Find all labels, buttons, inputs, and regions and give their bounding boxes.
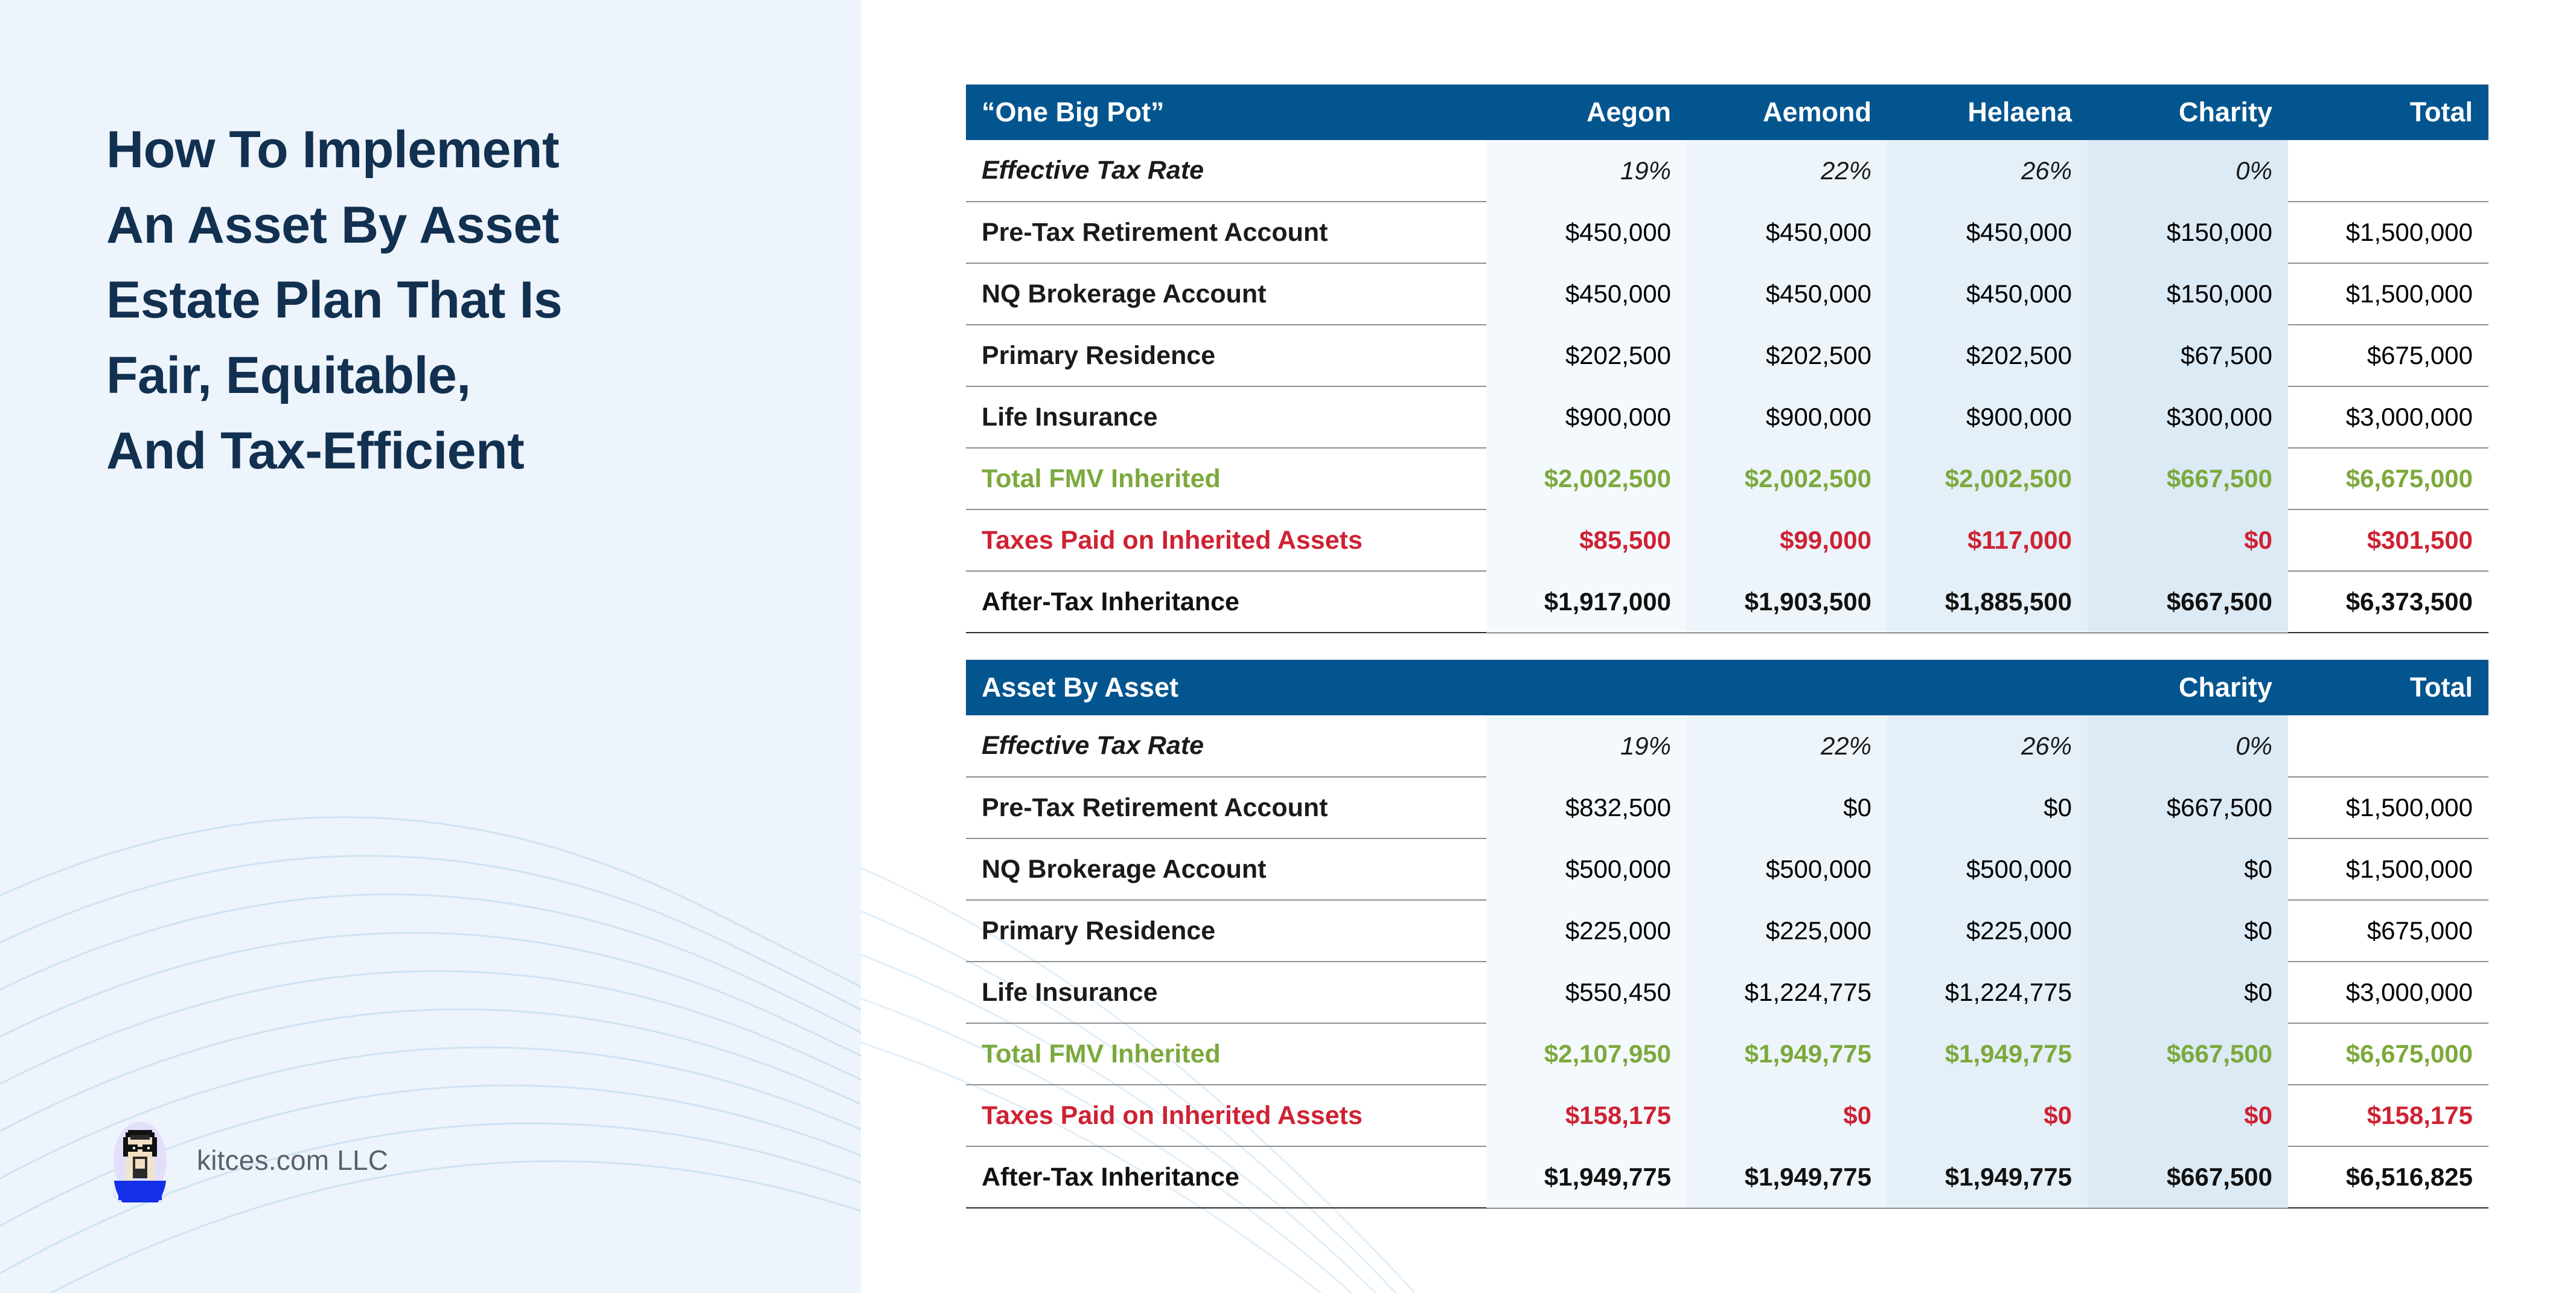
- cell-aemond: $99,000: [1687, 509, 1887, 571]
- cell-aemond: $900,000: [1687, 386, 1887, 448]
- column-header-aegon: [1486, 660, 1687, 715]
- cell-aegon: $2,002,500: [1486, 448, 1687, 509]
- column-header-label: Asset By Asset: [966, 660, 1486, 715]
- row-label: Life Insurance: [966, 386, 1486, 448]
- table-body: Effective Tax Rate 19% 22% 26% 0% Pre-Ta…: [966, 140, 2488, 633]
- cell-aemond: $1,224,775: [1687, 962, 1887, 1023]
- cell-aegon: $550,450: [1486, 962, 1687, 1023]
- financial-table: Asset By Asset Charity Total Effective T…: [966, 660, 2488, 1208]
- column-header-total: Total: [2288, 85, 2488, 140]
- row-label: Total FMV Inherited: [966, 448, 1486, 509]
- cell-aemond: $225,000: [1687, 900, 1887, 962]
- cell-aegon: $2,107,950: [1486, 1023, 1687, 1085]
- cell-charity: $150,000: [2088, 202, 2288, 263]
- cell-helaena: $450,000: [1887, 263, 2088, 325]
- column-header-aegon: Aegon: [1486, 85, 1687, 140]
- cell-aemond: $202,500: [1687, 325, 1887, 386]
- page-title: How To Implement An Asset By Asset Estat…: [106, 112, 819, 488]
- table-row: Life Insurance $550,450 $1,224,775 $1,22…: [966, 962, 2488, 1023]
- table-row: Total FMV Inherited $2,107,950 $1,949,77…: [966, 1023, 2488, 1085]
- cell-helaena: $1,949,775: [1887, 1146, 2088, 1208]
- cell-charity: $67,500: [2088, 325, 2288, 386]
- table-row: Total FMV Inherited $2,002,500 $2,002,50…: [966, 448, 2488, 509]
- row-label: Pre-Tax Retirement Account: [966, 777, 1486, 838]
- cell-total: $6,373,500: [2288, 571, 2488, 633]
- cell-helaena: 26%: [1887, 715, 2088, 777]
- row-label: NQ Brokerage Account: [966, 838, 1486, 900]
- cell-total: $675,000: [2288, 325, 2488, 386]
- row-label: Primary Residence: [966, 900, 1486, 962]
- table-asset-by-asset: Asset By Asset Charity Total Effective T…: [966, 660, 2488, 1208]
- cell-aegon: $225,000: [1486, 900, 1687, 962]
- cell-aemond: $1,949,775: [1687, 1023, 1887, 1085]
- cell-aegon: $500,000: [1486, 838, 1687, 900]
- row-label: Pre-Tax Retirement Account: [966, 202, 1486, 263]
- cell-total: $6,516,825: [2288, 1146, 2488, 1208]
- cell-charity: $667,500: [2088, 571, 2288, 633]
- cell-total: $675,000: [2288, 900, 2488, 962]
- cell-aegon: $1,917,000: [1486, 571, 1687, 633]
- cell-total: $1,500,000: [2288, 777, 2488, 838]
- table-row: Pre-Tax Retirement Account $832,500 $0 $…: [966, 777, 2488, 838]
- row-label: After-Tax Inheritance: [966, 1146, 1486, 1208]
- brand-footer: kitces.com LLC: [106, 1118, 388, 1202]
- table-row: Life Insurance $900,000 $900,000 $900,00…: [966, 386, 2488, 448]
- cell-aemond: $450,000: [1687, 202, 1887, 263]
- table-row: NQ Brokerage Account $450,000 $450,000 $…: [966, 263, 2488, 325]
- row-label: Taxes Paid on Inherited Assets: [966, 1085, 1486, 1146]
- cell-aegon: $832,500: [1486, 777, 1687, 838]
- cell-helaena: $0: [1887, 777, 2088, 838]
- table-row: Taxes Paid on Inherited Assets $85,500 $…: [966, 509, 2488, 571]
- row-label: NQ Brokerage Account: [966, 263, 1486, 325]
- column-header-helaena: [1887, 660, 2088, 715]
- table-row: Primary Residence $202,500 $202,500 $202…: [966, 325, 2488, 386]
- table-one-big-pot: “One Big Pot” Aegon Aemond Helaena Chari…: [966, 85, 2488, 633]
- table-header-row: “One Big Pot” Aegon Aemond Helaena Chari…: [966, 85, 2488, 140]
- cell-total: [2288, 715, 2488, 777]
- column-header-total: Total: [2288, 660, 2488, 715]
- cell-helaena: $117,000: [1887, 509, 2088, 571]
- cell-aegon: 19%: [1486, 140, 1687, 202]
- cell-aegon: $900,000: [1486, 386, 1687, 448]
- row-label: Taxes Paid on Inherited Assets: [966, 509, 1486, 571]
- column-header-label: “One Big Pot”: [966, 85, 1486, 140]
- cell-aegon: $450,000: [1486, 263, 1687, 325]
- cell-aegon: $85,500: [1486, 509, 1687, 571]
- cell-charity: $667,500: [2088, 1146, 2288, 1208]
- cell-charity: $667,500: [2088, 777, 2288, 838]
- cell-total: $301,500: [2288, 509, 2488, 571]
- cell-charity: $667,500: [2088, 448, 2288, 509]
- table-row: Primary Residence $225,000 $225,000 $225…: [966, 900, 2488, 962]
- table-row: After-Tax Inheritance $1,917,000 $1,903,…: [966, 571, 2488, 633]
- cell-aemond: 22%: [1687, 715, 1887, 777]
- cell-helaena: $2,002,500: [1887, 448, 2088, 509]
- cell-total: $3,000,000: [2288, 962, 2488, 1023]
- table-header-row: Asset By Asset Charity Total: [966, 660, 2488, 715]
- cell-aegon: $450,000: [1486, 202, 1687, 263]
- cell-aemond: $0: [1687, 1085, 1887, 1146]
- column-header-aemond: [1687, 660, 1887, 715]
- cell-total: $158,175: [2288, 1085, 2488, 1146]
- row-label: Total FMV Inherited: [966, 1023, 1486, 1085]
- cell-aegon: $202,500: [1486, 325, 1687, 386]
- cell-total: $3,000,000: [2288, 386, 2488, 448]
- cell-aemond: $1,903,500: [1687, 571, 1887, 633]
- cell-total: $1,500,000: [2288, 838, 2488, 900]
- table-row: Pre-Tax Retirement Account $450,000 $450…: [966, 202, 2488, 263]
- cell-total: $1,500,000: [2288, 263, 2488, 325]
- cell-aemond: $0: [1687, 777, 1887, 838]
- cell-helaena: $450,000: [1887, 202, 2088, 263]
- cell-total: $6,675,000: [2288, 448, 2488, 509]
- column-header-charity: Charity: [2088, 660, 2288, 715]
- column-header-aemond: Aemond: [1687, 85, 1887, 140]
- cell-charity: $0: [2088, 962, 2288, 1023]
- cell-charity: 0%: [2088, 140, 2288, 202]
- cell-aemond: $500,000: [1687, 838, 1887, 900]
- cell-total: $1,500,000: [2288, 202, 2488, 263]
- cell-helaena: $202,500: [1887, 325, 2088, 386]
- table-row: Effective Tax Rate 19% 22% 26% 0%: [966, 715, 2488, 777]
- column-header-helaena: Helaena: [1887, 85, 2088, 140]
- cell-aegon: $158,175: [1486, 1085, 1687, 1146]
- cell-charity: $300,000: [2088, 386, 2288, 448]
- cell-helaena: $1,224,775: [1887, 962, 2088, 1023]
- column-header-charity: Charity: [2088, 85, 2288, 140]
- cell-helaena: $1,949,775: [1887, 1023, 2088, 1085]
- table-row: After-Tax Inheritance $1,949,775 $1,949,…: [966, 1146, 2488, 1208]
- cell-charity: 0%: [2088, 715, 2288, 777]
- financial-table: “One Big Pot” Aegon Aemond Helaena Chari…: [966, 85, 2488, 633]
- table-row: Effective Tax Rate 19% 22% 26% 0%: [966, 140, 2488, 202]
- cell-aegon: 19%: [1486, 715, 1687, 777]
- table-row: NQ Brokerage Account $500,000 $500,000 $…: [966, 838, 2488, 900]
- row-label: Effective Tax Rate: [966, 715, 1486, 777]
- row-label: Effective Tax Rate: [966, 140, 1486, 202]
- cell-aemond: $450,000: [1687, 263, 1887, 325]
- cell-helaena: $900,000: [1887, 386, 2088, 448]
- cell-helaena: $225,000: [1887, 900, 2088, 962]
- row-label: Life Insurance: [966, 962, 1486, 1023]
- cell-charity: $667,500: [2088, 1023, 2288, 1085]
- cell-charity: $0: [2088, 838, 2288, 900]
- cell-total: [2288, 140, 2488, 202]
- cell-aemond: $2,002,500: [1687, 448, 1887, 509]
- cell-charity: $0: [2088, 900, 2288, 962]
- row-label: Primary Residence: [966, 325, 1486, 386]
- table-row: Taxes Paid on Inherited Assets $158,175 …: [966, 1085, 2488, 1146]
- cell-helaena: 26%: [1887, 140, 2088, 202]
- pixel-avatar-icon: [106, 1118, 174, 1202]
- cell-aemond: 22%: [1687, 140, 1887, 202]
- cell-charity: $0: [2088, 1085, 2288, 1146]
- cell-total: $6,675,000: [2288, 1023, 2488, 1085]
- brand-label: kitces.com LLC: [197, 1144, 388, 1176]
- cell-helaena: $0: [1887, 1085, 2088, 1146]
- cell-charity: $150,000: [2088, 263, 2288, 325]
- left-panel: How To Implement An Asset By Asset Estat…: [0, 0, 861, 1293]
- cell-aegon: $1,949,775: [1486, 1146, 1687, 1208]
- cell-helaena: $1,885,500: [1887, 571, 2088, 633]
- cell-aemond: $1,949,775: [1687, 1146, 1887, 1208]
- cell-charity: $0: [2088, 509, 2288, 571]
- row-label: After-Tax Inheritance: [966, 571, 1486, 633]
- table-body: Effective Tax Rate 19% 22% 26% 0% Pre-Ta…: [966, 715, 2488, 1208]
- cell-helaena: $500,000: [1887, 838, 2088, 900]
